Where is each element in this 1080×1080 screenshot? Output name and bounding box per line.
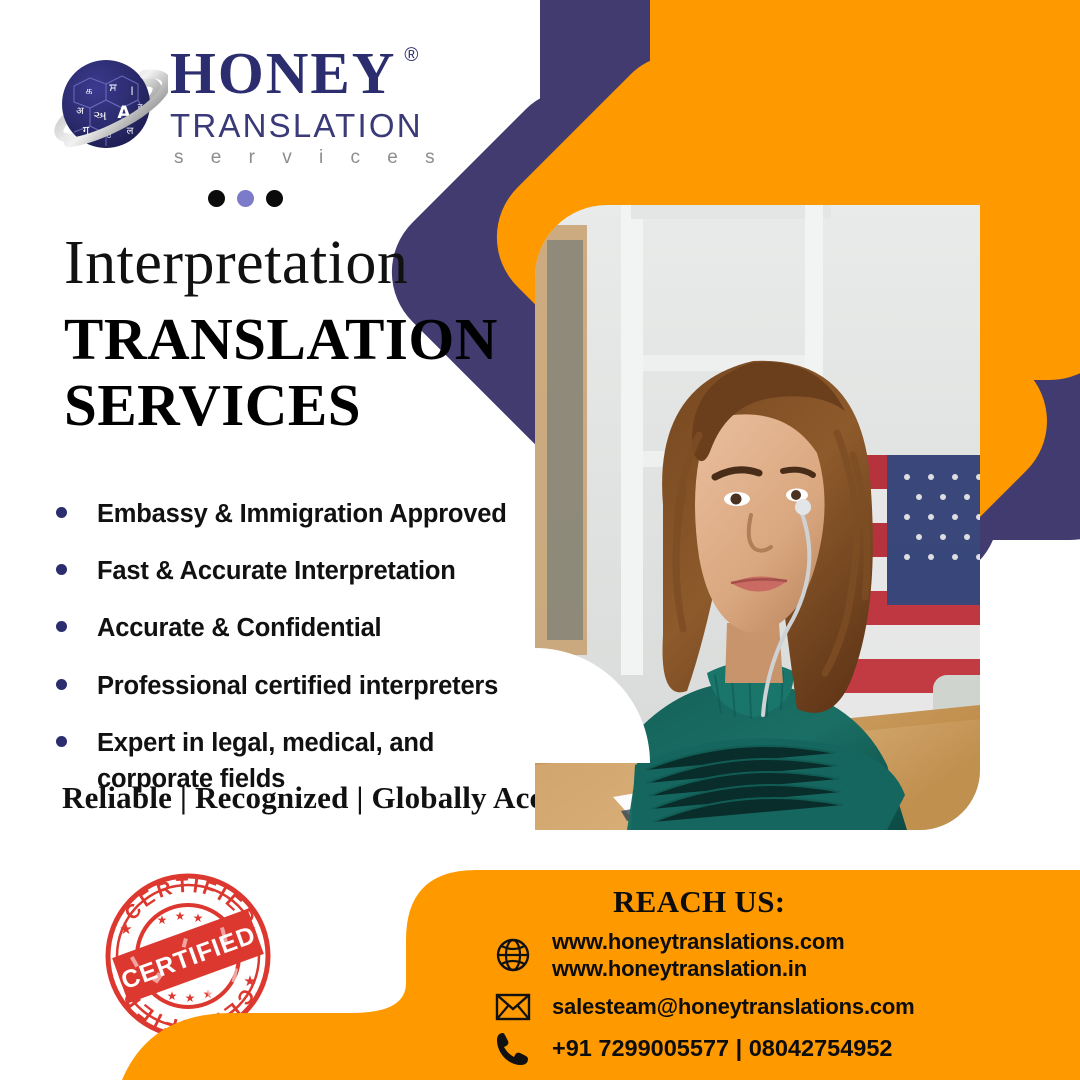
svg-text:ल: ल	[127, 126, 134, 137]
list-item-label: Fast & Accurate Interpretation	[97, 553, 456, 589]
reach-us-title: REACH US:	[613, 884, 785, 920]
globe-icon	[492, 937, 534, 973]
tagline: Reliable | Recognized | Globally Accepte…	[62, 780, 617, 816]
registered-trademark-icon: ®	[404, 46, 420, 65]
bullet-dot-icon	[56, 736, 67, 747]
logo-name-tertiary: s e r v i c e s	[170, 148, 470, 167]
bullet-dot-icon	[56, 507, 67, 518]
envelope-icon	[492, 993, 534, 1021]
flyer-canvas: க ਸ ا अ અ A ह ग ಕ ल HONEY ® TR	[0, 0, 1080, 1080]
website-lines: www.honeytranslations.com www.honeytrans…	[552, 928, 844, 983]
list-item-label: Accurate & Confidential	[97, 610, 381, 646]
contact-list: www.honeytranslations.com www.honeytrans…	[492, 928, 1052, 1075]
svg-text:अ: अ	[76, 106, 84, 117]
list-item-label: Professional certified interpreters	[97, 668, 498, 704]
svg-text:ا: ا	[130, 85, 133, 98]
dot-3	[266, 190, 283, 207]
list-item-label: Embassy & Immigration Approved	[97, 496, 507, 532]
contact-row-website[interactable]: www.honeytranslations.com www.honeytrans…	[492, 928, 1052, 983]
phone-numbers[interactable]: +91 7299005577 | 08042754952	[552, 1034, 893, 1063]
logo-wordmark: HONEY ® TRANSLATION s e r v i c e s	[170, 44, 470, 167]
decorative-dots	[208, 190, 283, 207]
list-item: Accurate & Confidential	[56, 610, 556, 646]
svg-text:க: க	[85, 84, 92, 97]
headline-bold-2: SERVICES	[64, 372, 534, 438]
svg-text:અ: અ	[93, 109, 107, 124]
dot-2	[237, 190, 254, 207]
bullet-dot-icon	[56, 621, 67, 632]
contact-row-phone[interactable]: +91 7299005577 | 08042754952	[492, 1031, 1052, 1067]
globe-logo-icon: க ਸ ا अ અ A ह ग ಕ ल	[52, 50, 168, 166]
phone-icon	[492, 1031, 534, 1067]
bullet-dot-icon	[56, 564, 67, 575]
logo-name-primary: HONEY	[170, 40, 396, 106]
website-line-2[interactable]: www.honeytranslation.in	[552, 956, 807, 981]
list-item: Fast & Accurate Interpretation	[56, 553, 556, 589]
list-item: Professional certified interpreters	[56, 668, 556, 704]
website-line-1[interactable]: www.honeytranslations.com	[552, 929, 844, 954]
svg-text:ਸ: ਸ	[108, 81, 117, 94]
email-address[interactable]: salesteam@honeytranslations.com	[552, 993, 915, 1020]
bullet-dot-icon	[56, 679, 67, 690]
contact-row-email[interactable]: salesteam@honeytranslations.com	[492, 993, 1052, 1021]
brand-logo: க ਸ ا अ અ A ह ग ಕ ल HONEY ® TR	[52, 44, 472, 194]
dot-1	[208, 190, 225, 207]
feature-list: Embassy & Immigration Approved Fast & Ac…	[56, 496, 556, 818]
logo-name-secondary: TRANSLATION	[170, 109, 470, 142]
headline-bold-1: TRANSLATION	[64, 306, 534, 372]
list-item: Embassy & Immigration Approved	[56, 496, 556, 532]
page-title: Interpretation TRANSLATION SERVICES	[64, 232, 534, 438]
headline-script: Interpretation	[64, 232, 534, 294]
